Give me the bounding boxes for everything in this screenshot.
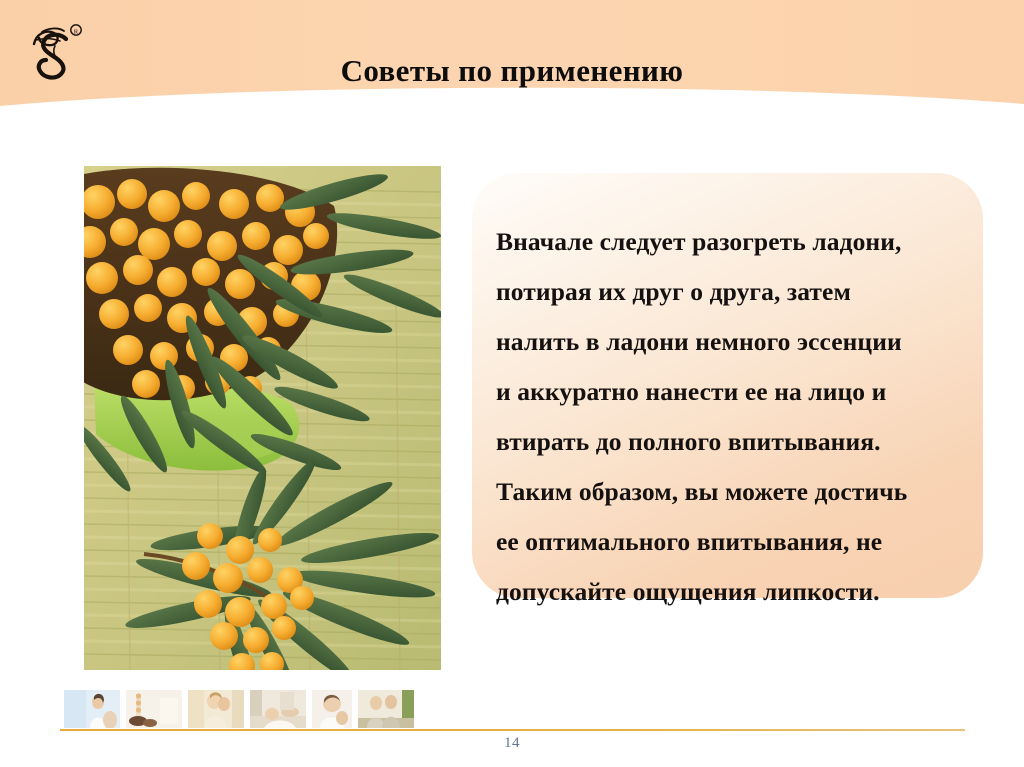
instructions-line: ее оптимального впитывания, не bbox=[496, 517, 963, 567]
thumbnail-face-care bbox=[312, 690, 352, 728]
brand-monogram-logo: R bbox=[22, 16, 88, 86]
instructions-line: Вначале следует разогреть ладони, bbox=[496, 217, 963, 267]
thumbnail-massage-treatment bbox=[250, 690, 306, 728]
thumbnail-outdoor-people bbox=[358, 690, 414, 728]
instructions-line: допускайте ощущения липкости. bbox=[496, 567, 963, 617]
instructions-line: и аккуратно нанести ее на лицо и bbox=[496, 367, 963, 417]
instructions-line: втирать до полного впитывания. bbox=[496, 417, 963, 467]
page-number: 14 bbox=[0, 735, 1024, 752]
instructions-line: Таким образом, вы можете достичь bbox=[496, 467, 963, 517]
footer-divider bbox=[60, 729, 965, 731]
sea-buckthorn-berries-photo bbox=[84, 166, 441, 670]
svg-text:R: R bbox=[74, 28, 79, 35]
thumbnail-spa-stones-icon bbox=[126, 690, 182, 728]
thumbnail-woman-wellness bbox=[64, 690, 120, 728]
instructions-text: Вначале следует разогреть ладони, потира… bbox=[472, 173, 983, 617]
thumbnail-spa-stones bbox=[126, 690, 182, 728]
page-title: Советы по применению bbox=[0, 54, 1024, 88]
instructions-line: налить в ладони немного эссенции bbox=[496, 317, 963, 367]
photo-illustration bbox=[84, 166, 441, 670]
instructions-line: потирая их друг о друга, затем bbox=[496, 267, 963, 317]
monogram-icon: R bbox=[22, 16, 88, 86]
slide-header: Советы по применению bbox=[0, 0, 1024, 108]
thumbnail-couple-relax bbox=[188, 690, 244, 728]
thumbnail-couple-relax-icon bbox=[188, 690, 244, 728]
thumbnail-strip bbox=[64, 690, 364, 728]
thumbnail-woman-wellness-icon bbox=[64, 690, 120, 728]
thumbnail-face-care-icon bbox=[312, 690, 352, 728]
thumbnail-outdoor-people-icon bbox=[358, 690, 414, 728]
slide: Советы по применению R bbox=[0, 0, 1024, 767]
thumbnail-massage-treatment-icon bbox=[250, 690, 306, 728]
